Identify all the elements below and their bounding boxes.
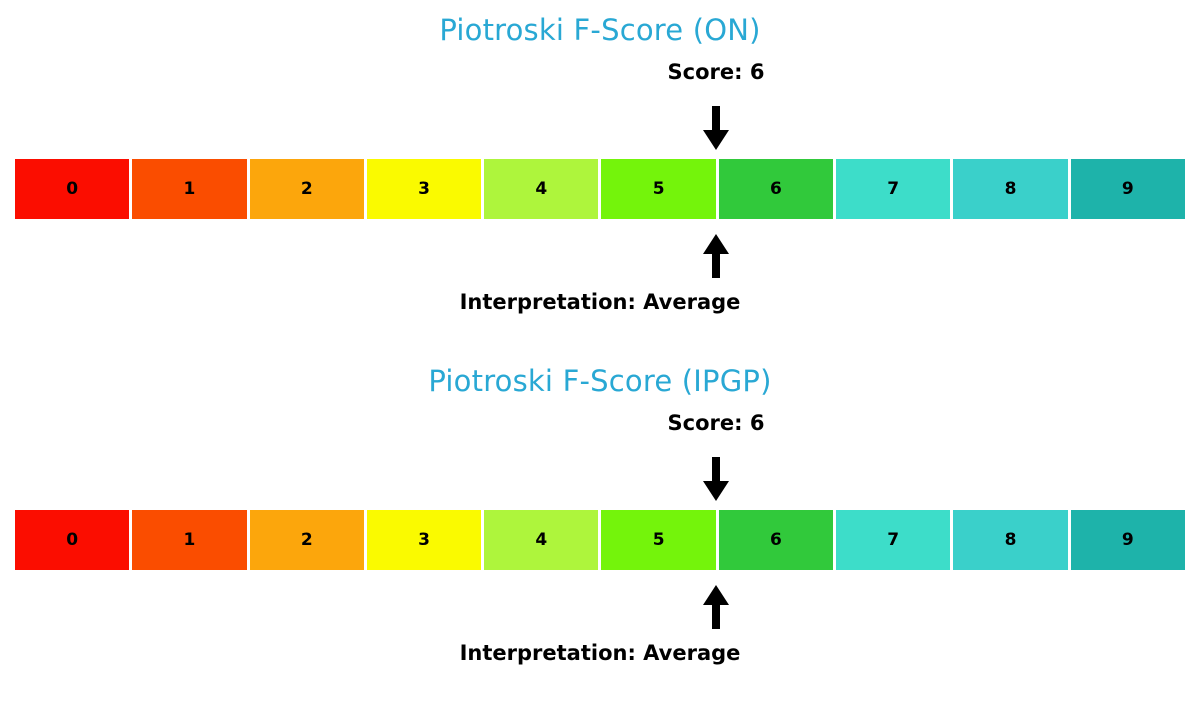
interpretation-label-on: Interpretation: Average [460, 292, 741, 313]
scale-segment-1[interactable]: 1 [132, 159, 249, 219]
scale-segment-5[interactable]: 5 [601, 159, 718, 219]
arrow-up-icon-on [699, 232, 733, 278]
fscore-panel-ipgp: Piotroski F-Score (IPGP) Score: 6 0 1 2 … [0, 351, 1200, 691]
scale-segment-3[interactable]: 3 [367, 159, 484, 219]
scale-segment-2[interactable]: 2 [250, 159, 367, 219]
scale-segment-1[interactable]: 1 [132, 510, 249, 570]
scale-segment-7[interactable]: 7 [836, 510, 953, 570]
arrow-up-icon-ipgp [699, 583, 733, 629]
scale-segment-6[interactable]: 6 [719, 510, 836, 570]
scale-segment-0[interactable]: 0 [15, 159, 132, 219]
scale-segment-8[interactable]: 8 [953, 159, 1070, 219]
scale-segment-6[interactable]: 6 [719, 159, 836, 219]
interpretation-label-ipgp: Interpretation: Average [460, 643, 741, 664]
scale-segment-4[interactable]: 4 [484, 159, 601, 219]
arrow-down-icon-on [699, 106, 733, 152]
scale-segment-0[interactable]: 0 [15, 510, 132, 570]
scale-segment-9[interactable]: 9 [1071, 510, 1185, 570]
score-label-on: Score: 6 [668, 62, 765, 83]
scale-segment-2[interactable]: 2 [250, 510, 367, 570]
scale-segment-8[interactable]: 8 [953, 510, 1070, 570]
scale-segment-9[interactable]: 9 [1071, 159, 1185, 219]
fscore-panel-on: Piotroski F-Score (ON) Score: 6 0 1 2 3 … [0, 0, 1200, 340]
arrow-down-icon-ipgp [699, 457, 733, 503]
scale-segment-4[interactable]: 4 [484, 510, 601, 570]
page-title-on: Piotroski F-Score (ON) [0, 16, 1200, 45]
page-title-ipgp: Piotroski F-Score (IPGP) [0, 367, 1200, 396]
fscore-scale-bar-on: 0 1 2 3 4 5 6 7 8 9 [15, 159, 1185, 219]
scale-segment-5[interactable]: 5 [601, 510, 718, 570]
score-label-ipgp: Score: 6 [668, 413, 765, 434]
scale-segment-3[interactable]: 3 [367, 510, 484, 570]
fscore-scale-bar-ipgp: 0 1 2 3 4 5 6 7 8 9 [15, 510, 1185, 570]
scale-segment-7[interactable]: 7 [836, 159, 953, 219]
